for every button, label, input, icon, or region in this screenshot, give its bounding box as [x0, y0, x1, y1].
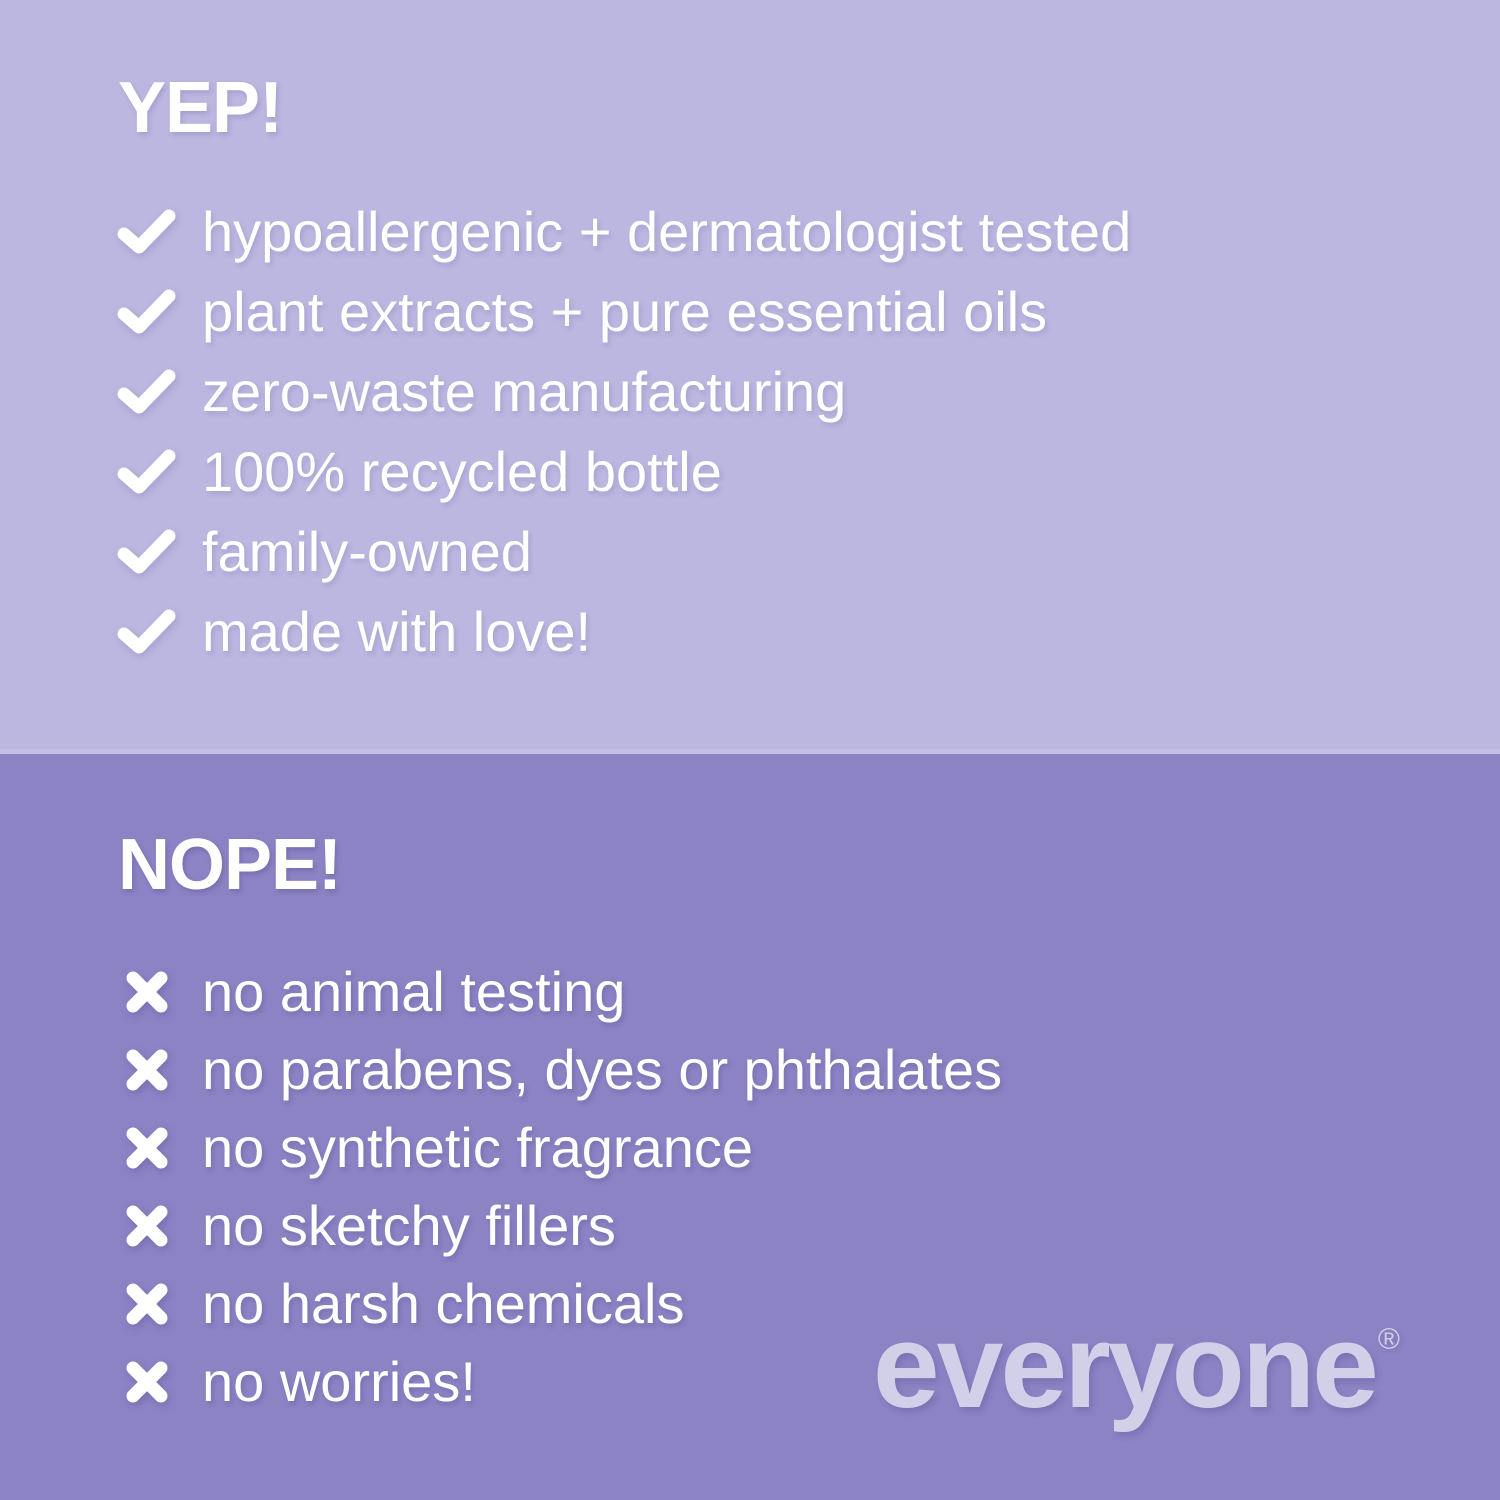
list-item-label: no harsh chemicals [202, 1276, 684, 1332]
list-item: family-owned [118, 512, 1500, 592]
list-item-label: family-owned [202, 524, 532, 580]
list-item: no synthetic fragrance [118, 1109, 1500, 1187]
brand-wordmark: everyone [873, 1315, 1376, 1418]
x-icon [118, 1119, 176, 1177]
yep-list: hypoallergenic + dermatologist tested pl… [118, 192, 1500, 672]
nope-heading: NOPE! [118, 829, 1500, 901]
check-icon [118, 443, 176, 501]
list-item: zero-waste manufacturing [118, 352, 1500, 432]
list-item-label: 100% recycled bottle [202, 444, 722, 500]
registered-trademark-icon: ® [1378, 1325, 1400, 1355]
list-item: hypoallergenic + dermatologist tested [118, 192, 1500, 272]
list-item-label: plant extracts + pure essential oils [202, 284, 1047, 340]
x-icon [118, 1041, 176, 1099]
list-item: no sketchy fillers [118, 1187, 1500, 1265]
x-icon [118, 1275, 176, 1333]
list-item-label: no synthetic fragrance [202, 1120, 753, 1176]
yep-heading: YEP! [118, 72, 1500, 144]
check-icon [118, 283, 176, 341]
x-icon [118, 1197, 176, 1255]
check-icon [118, 203, 176, 261]
brand-logo: everyone ® [873, 1315, 1400, 1418]
nope-panel: NOPE! no animal testing no parabens, dye… [0, 754, 1500, 1500]
list-item-label: no worries! [202, 1354, 476, 1410]
check-icon [118, 363, 176, 421]
list-item-label: no parabens, dyes or phthalates [202, 1042, 1002, 1098]
list-item-label: made with love! [202, 604, 591, 660]
list-item: plant extracts + pure essential oils [118, 272, 1500, 352]
list-item: no animal testing [118, 953, 1500, 1031]
yep-panel: YEP! hypoallergenic + dermatologist test… [0, 0, 1500, 749]
list-item: 100% recycled bottle [118, 432, 1500, 512]
x-icon [118, 1353, 176, 1411]
check-icon [118, 523, 176, 581]
list-item-label: hypoallergenic + dermatologist tested [202, 204, 1131, 260]
list-item-label: no animal testing [202, 964, 625, 1020]
list-item-label: zero-waste manufacturing [202, 364, 846, 420]
list-item: made with love! [118, 592, 1500, 672]
list-item: no parabens, dyes or phthalates [118, 1031, 1500, 1109]
x-icon [118, 963, 176, 1021]
product-claims-poster: YEP! hypoallergenic + dermatologist test… [0, 0, 1500, 1500]
check-icon [118, 603, 176, 661]
list-item-label: no sketchy fillers [202, 1198, 616, 1254]
